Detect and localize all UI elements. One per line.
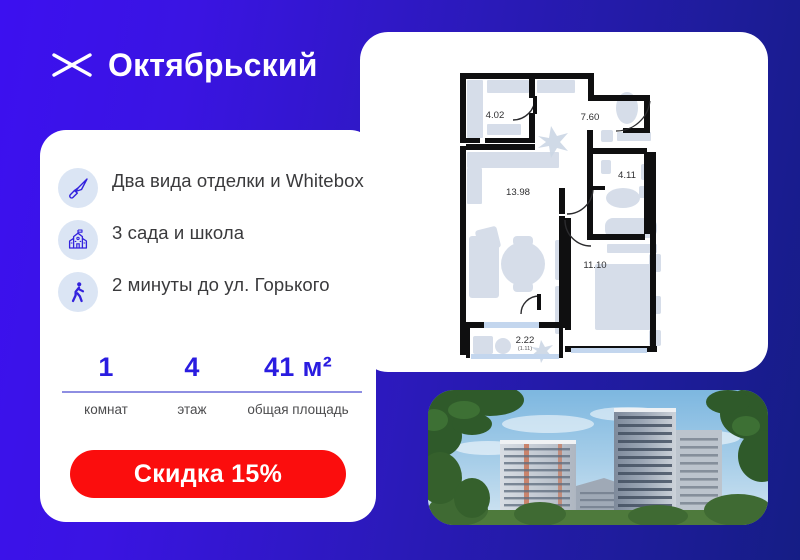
x-mark-icon [52, 50, 94, 80]
feature-label: Два вида отделки и Whitebox [112, 168, 364, 192]
fp-label-entry: 7.60 [581, 112, 600, 123]
fp-label-living: 13.98 [506, 187, 530, 198]
pedestrian-icon [58, 272, 98, 312]
feature-item-schools: 3 сада и школа [58, 220, 368, 260]
stat-value-rooms: 1 [62, 352, 150, 383]
stats-values-row: 1 4 41 м² [62, 352, 362, 391]
feature-label: 3 сада и школа [112, 220, 244, 244]
stat-area-unit: м² [302, 352, 332, 382]
school-icon [58, 220, 98, 260]
stat-value-area: 41 м² [234, 352, 362, 383]
building-render-photo [428, 390, 768, 525]
stat-area-number: 41 [264, 352, 295, 382]
stat-label-floor: этаж [150, 402, 234, 418]
discount-button[interactable]: Скидка 15% [70, 450, 346, 498]
fp-label-balcony-sub: (1.11) [518, 346, 532, 352]
fp-label-balcony: 2.22 [516, 335, 535, 346]
brand-logo-tab[interactable]: Октябрьский [0, 0, 375, 130]
trowel-icon [58, 168, 98, 208]
stat-value-floor: 4 [150, 352, 234, 383]
feature-item-walk-distance: 2 минуты до ул. Горького [58, 272, 368, 312]
stats-labels-row: комнат этаж общая площадь [62, 393, 362, 418]
info-card: Два вида отделки и Whitebox 3 сада и шко… [40, 130, 376, 522]
stat-label-area: общая площадь [234, 402, 362, 418]
feature-label: 2 минуты до ул. Горького [112, 272, 330, 296]
fp-label-bathroom: 4.11 [618, 170, 636, 181]
fp-label-bedroom: 11.10 [583, 260, 606, 271]
feature-list: Два вида отделки и Whitebox 3 сада и шко… [58, 168, 368, 324]
brand-name: Октябрьский [108, 47, 318, 84]
floorplan-drawing: 4.02 7.60 4.11 13.98 11.10 2.22 (1.11) [455, 68, 675, 364]
apartment-stats: 1 4 41 м² комнат этаж общая площадь [62, 352, 362, 418]
stat-label-rooms: комнат [62, 402, 150, 418]
feature-item-finishing: Два вида отделки и Whitebox [58, 168, 368, 208]
fp-label-hallway: 4.02 [486, 110, 505, 121]
